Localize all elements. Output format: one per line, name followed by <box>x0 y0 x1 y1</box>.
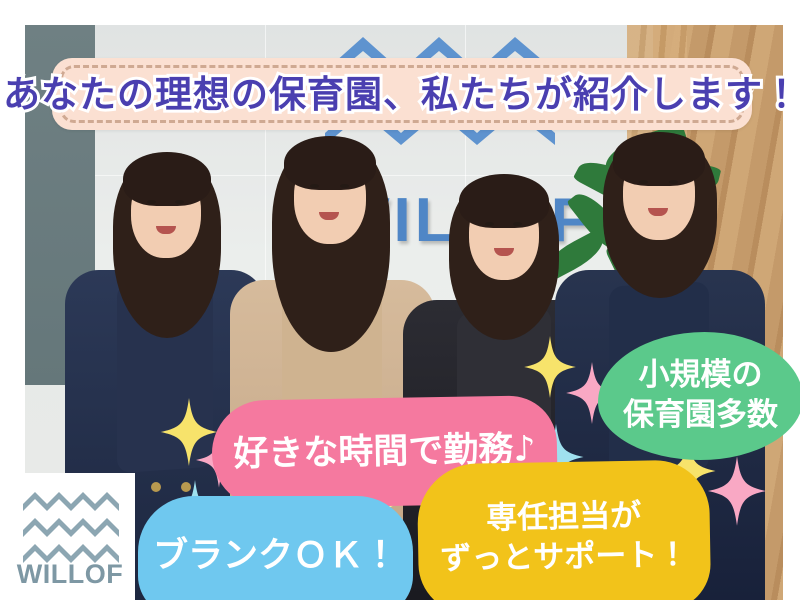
callout-dedicated-support[interactable]: 専任担当が ずっとサポート！ <box>417 459 712 600</box>
person-4-hair <box>613 132 705 186</box>
person-1-button <box>151 482 161 492</box>
willof-logo-card[interactable]: WILLOF <box>5 473 135 600</box>
person-1-hair <box>123 152 211 206</box>
logo-zigzag-row <box>23 515 119 537</box>
headline-ribbon: あなたの理想の保育園、私たちが紹介します！ <box>52 58 752 130</box>
poster-canvas: WILLOF <box>0 0 800 600</box>
person-2-hair <box>284 136 376 190</box>
logo-zigzag-row <box>23 489 119 511</box>
callout-blank-ok[interactable]: ブランクＯＫ！ <box>138 496 413 600</box>
logo-wordmark: WILLOF <box>5 561 135 588</box>
person-3-hair <box>459 174 549 228</box>
headline-text: あなたの理想の保育園、私たちが紹介します！ <box>52 58 752 130</box>
sparkle-pink-right-icon <box>708 456 766 526</box>
